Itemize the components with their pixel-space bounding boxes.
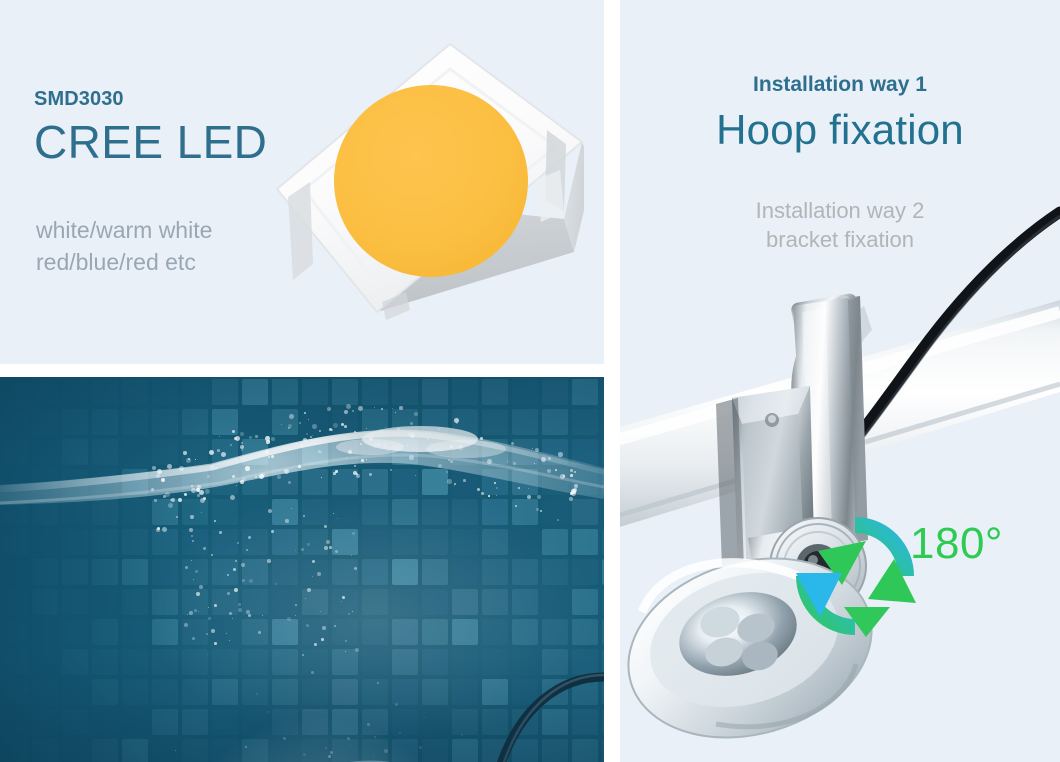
panel-ip68-waterproof: IP68 WATERPROOF IP68 Waterproof connecto…	[0, 377, 604, 762]
cree-subtitle-line-2: red/blue/red etc	[36, 247, 366, 279]
underwater-pool-image	[0, 377, 604, 762]
cree-text-block: SMD3030 CREE LED	[34, 88, 334, 169]
hoop-fixation-product-image	[620, 0, 1060, 762]
cree-title: CREE LED	[34, 116, 334, 169]
cree-eyebrow: SMD3030	[34, 88, 334, 110]
panel-installation: Installation way 1 Hoop fixation Install…	[620, 0, 1060, 762]
panel-cree-led: SMD3030 CREE LED white/warm white red/bl…	[0, 0, 604, 364]
rotation-degree-label: 180°	[910, 522, 1003, 566]
infographic-sheet: SMD3030 CREE LED white/warm white red/bl…	[0, 0, 1060, 762]
rotation-180-arrows-icon	[790, 511, 920, 641]
cree-subtitle-block: white/warm white red/blue/red etc	[36, 215, 366, 278]
water-vignette	[0, 377, 604, 762]
smd-led-chip-image	[264, 34, 584, 344]
cree-subtitle-line-1: white/warm white	[36, 215, 366, 247]
